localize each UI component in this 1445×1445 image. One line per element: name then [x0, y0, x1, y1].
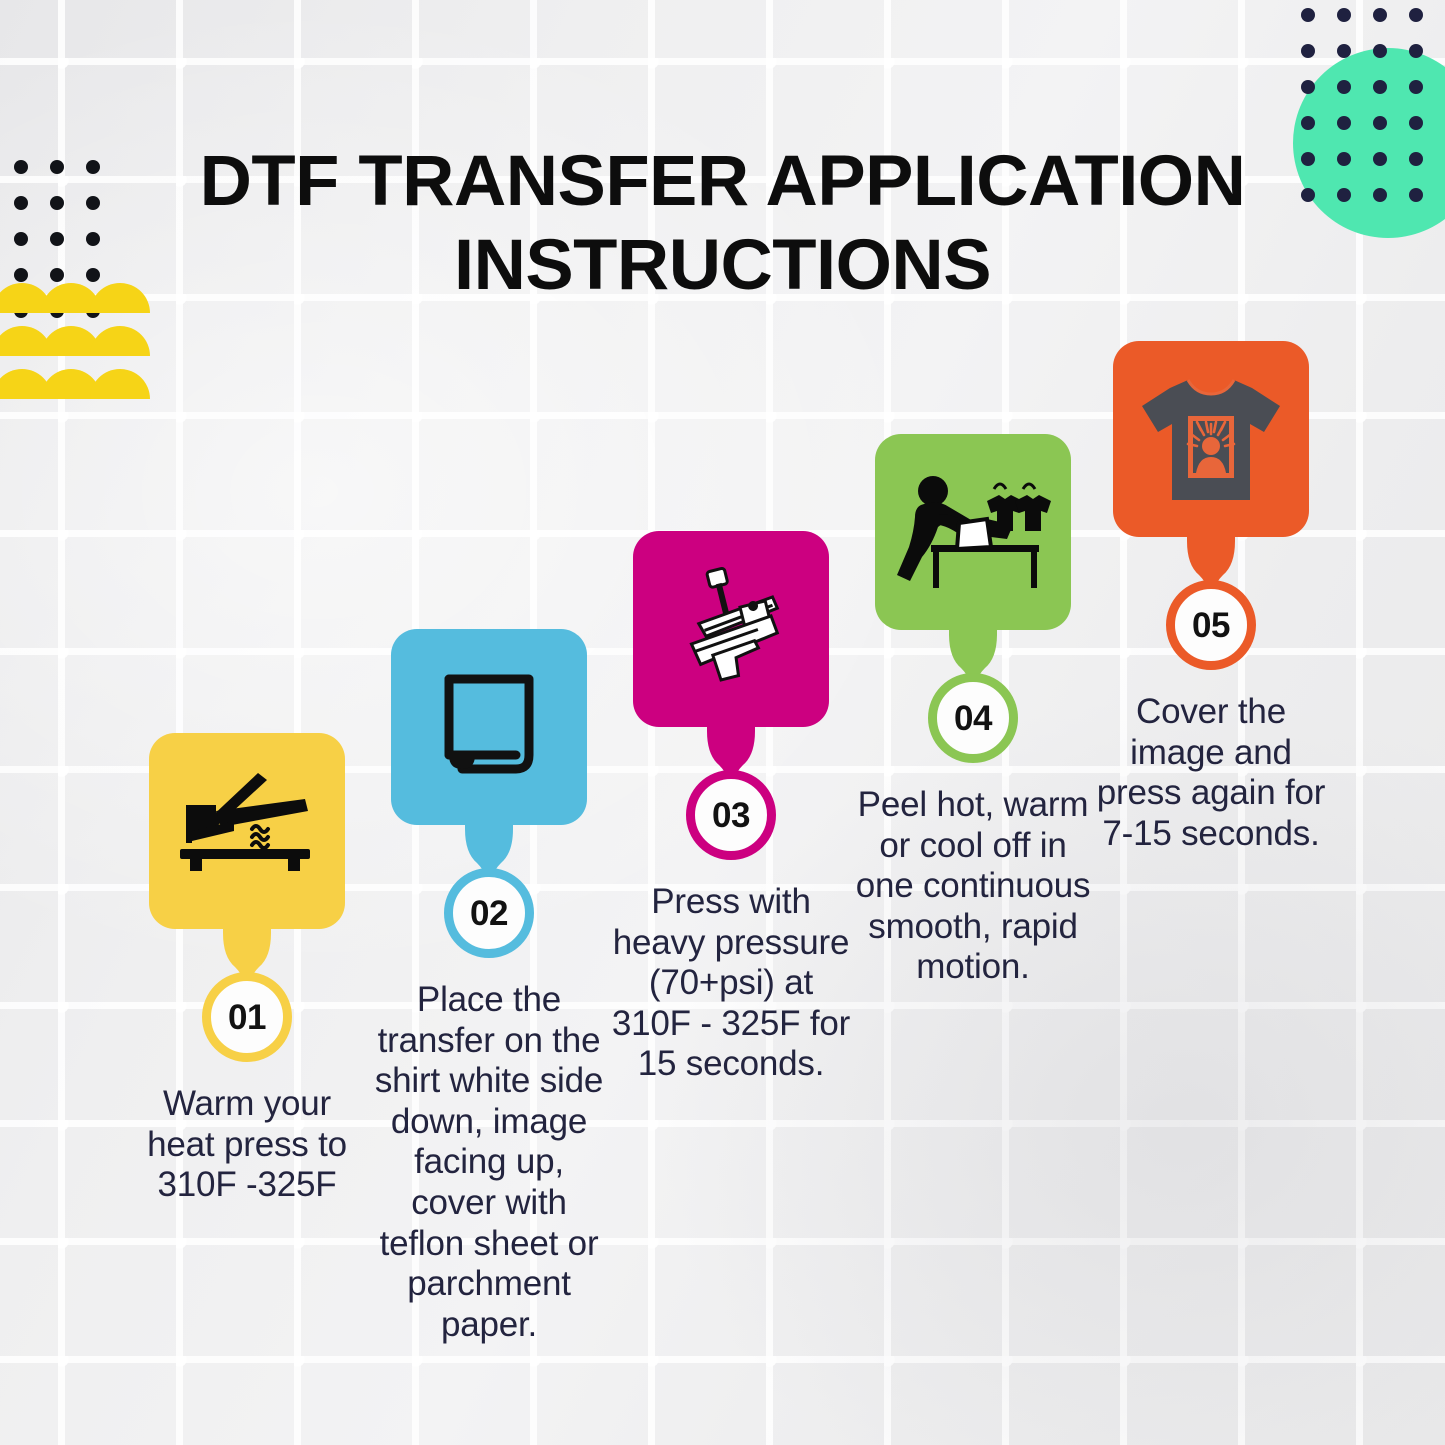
step-01-icon-card [149, 733, 345, 929]
step-04: 04Peel hot, warm or cool off in one cont… [854, 434, 1092, 988]
step-03-caption: Press with heavy pressure (70+psi) at 31… [611, 882, 851, 1085]
step-05-caption: Cover the image and press again for 7-15… [1091, 692, 1331, 854]
step-01-caption: Warm your heat press to 310F -325F [127, 1084, 367, 1206]
step-number: 03 [712, 798, 750, 833]
step-number: 04 [954, 701, 992, 736]
transfer-sheet-icon [429, 667, 549, 787]
infographic-canvas: DTF TRANSFER APPLICATION INSTRUCTIONS [0, 0, 1445, 1445]
step-02-badge: 02 [444, 868, 534, 958]
step-02: 02Place the transfer on the shirt white … [370, 629, 608, 1345]
step-01: 01Warm your heat press to 310F -325F [128, 733, 366, 1206]
step-number: 02 [470, 896, 508, 931]
step-03-badge: 03 [686, 770, 776, 860]
step-05: 05Cover the image and press again for 7-… [1092, 341, 1330, 854]
printed-tshirt-icon [1136, 372, 1286, 507]
step-number: 05 [1192, 608, 1230, 643]
step-04-icon-card [875, 434, 1071, 630]
step-01-badge: 01 [202, 972, 292, 1062]
step-04-badge: 04 [928, 673, 1018, 763]
step-02-icon-card [391, 629, 587, 825]
step-05-icon-card [1113, 341, 1309, 537]
heat-press-open-icon [172, 771, 322, 891]
step-05-badge: 05 [1166, 580, 1256, 670]
step-03: 03Press with heavy pressure (70+psi) at … [612, 531, 850, 1085]
heat-press-machine-icon [661, 564, 801, 694]
step-02-caption: Place the transfer on the shirt white si… [369, 980, 609, 1345]
step-list: 01Warm your heat press to 310F -325F 02P… [0, 0, 1445, 1445]
person-peeling-transfer-icon [895, 467, 1051, 597]
step-number: 01 [228, 1000, 266, 1035]
step-04-caption: Peel hot, warm or cool off in one contin… [853, 785, 1093, 988]
step-03-icon-card [633, 531, 829, 727]
